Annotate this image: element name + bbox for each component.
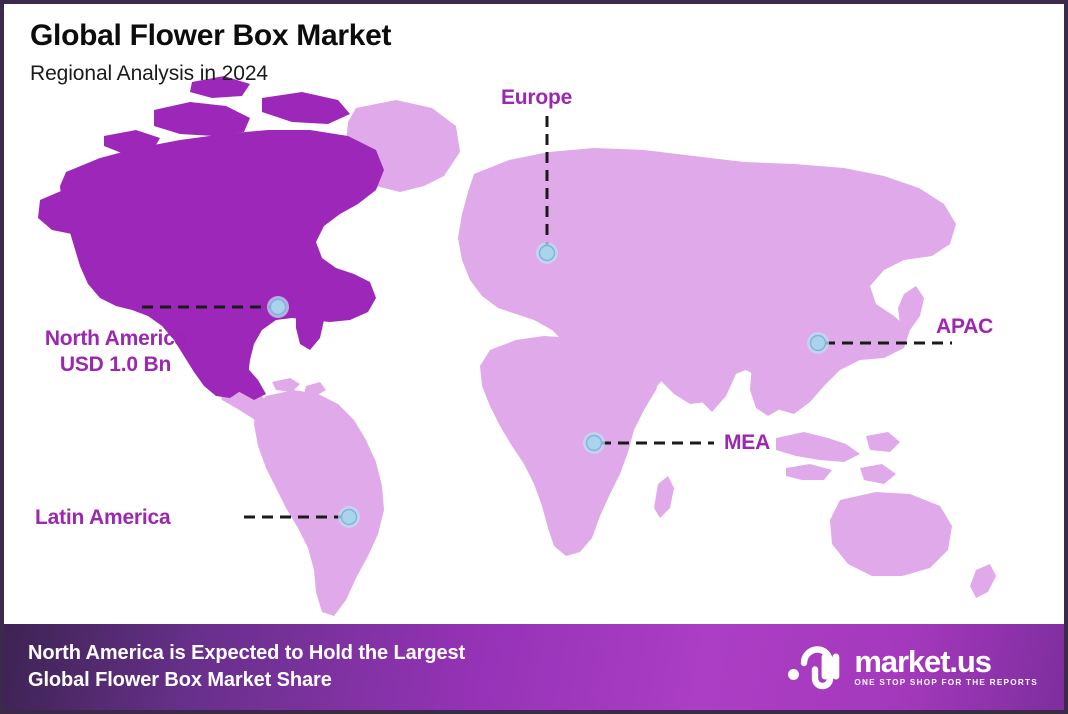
brand-tagline: ONE STOP SHOP FOR THE REPORTS: [854, 679, 1038, 687]
brand-logo: market.us ONE STOP SHOP FOR THE REPORTS: [787, 644, 1038, 690]
region-name-apac: APAC: [936, 315, 993, 338]
footer-headline: North America is Expected to Hold the La…: [28, 640, 465, 694]
infographic-root: Global Flower Box Market Regional Analys…: [0, 0, 1068, 714]
header: Global Flower Box Market Regional Analys…: [30, 18, 391, 86]
region-name-mea: MEA: [724, 431, 770, 454]
footer-headline-line2: Global Flower Box Market Share: [28, 667, 465, 694]
brand-logo-text: market.us ONE STOP SHOP FOR THE REPORTS: [854, 646, 1038, 687]
region-label-europe: Europe: [501, 85, 572, 111]
region-name-north-america: North America: [45, 327, 186, 350]
page-title: Global Flower Box Market: [30, 18, 391, 54]
market-us-logo-icon: [787, 644, 843, 690]
footer-headline-line1: North America is Expected to Hold the La…: [28, 640, 465, 667]
page-subtitle: Regional Analysis in 2024: [30, 62, 391, 86]
region-label-latin-america: Latin America: [35, 505, 171, 531]
region-name-europe: Europe: [501, 86, 572, 109]
region-name-latin-america: Latin America: [35, 506, 171, 529]
brand-name: market.us: [854, 646, 1038, 677]
region-value-north-america: USD 1.0 Bn: [18, 352, 213, 378]
region-label-north-america: North America USD 1.0 Bn: [18, 326, 213, 377]
region-label-mea: MEA: [724, 430, 770, 456]
footer-banner: North America is Expected to Hold the La…: [4, 624, 1064, 710]
region-label-apac: APAC: [936, 314, 993, 340]
